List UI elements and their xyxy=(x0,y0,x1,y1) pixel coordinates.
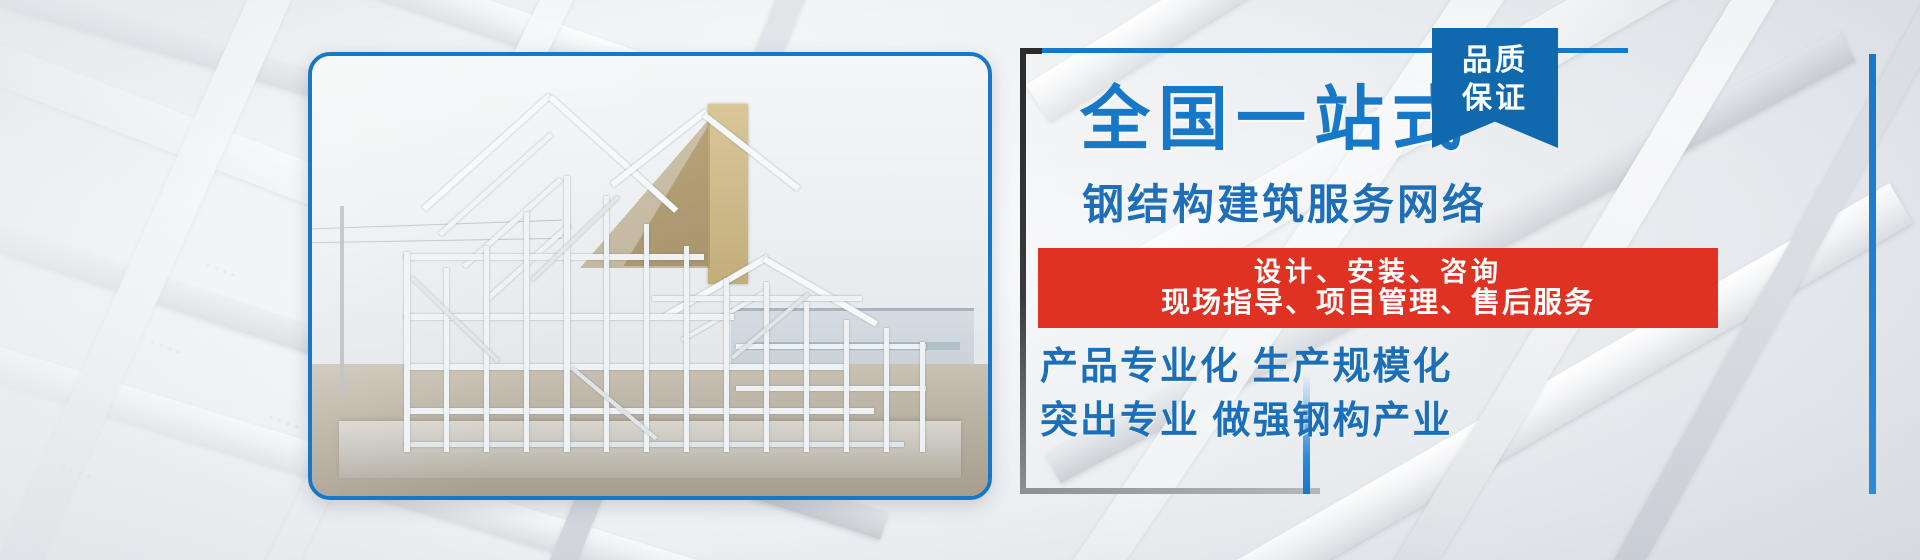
services-line-1: 设计、安装、咨询 xyxy=(1254,257,1502,287)
badge-line-2: 保证 xyxy=(1462,80,1528,118)
steel-frame-house-photo xyxy=(312,56,988,496)
headline-title: 全国一站式 xyxy=(1080,84,1470,154)
frame-left-border xyxy=(1020,48,1026,494)
services-line-2: 现场指导、项目管理、售后服务 xyxy=(1161,287,1595,319)
frame-top-cap xyxy=(1020,48,1042,54)
frame-bottom-border xyxy=(1020,488,1320,494)
subheadline-title: 钢结构建筑服务网络 xyxy=(1082,184,1487,226)
services-red-banner: 设计、安装、咨询 现场指导、项目管理、售后服务 xyxy=(1038,248,1718,328)
frame-right-border xyxy=(1869,54,1876,494)
slogan-line-1: 产品专业化 生产规模化 xyxy=(1040,348,1453,386)
badge-line-1: 品质 xyxy=(1462,42,1528,80)
promo-banner: 全国一站式 钢结构建筑服务网络 设计、安装、咨询 现场指导、项目管理、售后服务 … xyxy=(0,0,1920,560)
project-photo-card xyxy=(308,52,992,500)
slogan-line-2: 突出专业 做强钢构产业 xyxy=(1040,402,1453,440)
photo-concrete-slab xyxy=(339,421,961,478)
